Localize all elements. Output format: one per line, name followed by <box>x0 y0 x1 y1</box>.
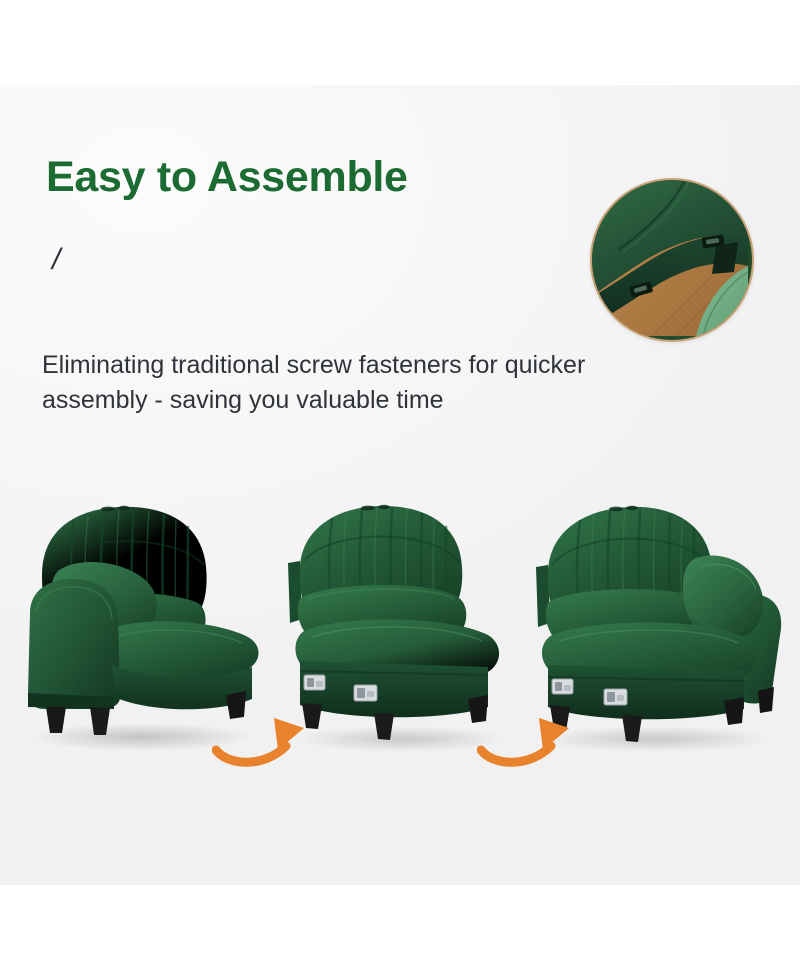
body-description: Eliminating traditional screw fasteners … <box>42 348 642 417</box>
infographic-page: Easy to Assemble / Eliminating tradition… <box>0 0 800 977</box>
curved-arrow-icon <box>212 712 322 770</box>
flow-arrow-middle-to-right <box>477 712 587 770</box>
flow-arrow-left-to-middle <box>212 712 322 770</box>
connector-clip-icon <box>552 679 573 694</box>
connector-clip-icon <box>304 675 325 690</box>
module-row <box>0 495 800 765</box>
connector-closeup-photo <box>590 178 754 342</box>
connector-clip-icon <box>604 689 627 705</box>
subtitle-slash-mark: / <box>52 243 60 277</box>
connector-closeup-illustration <box>592 180 748 336</box>
sofa-leg <box>724 697 744 725</box>
page-title: Easy to Assemble <box>46 155 408 200</box>
curved-arrow-icon <box>477 712 587 770</box>
sofa-leg <box>758 687 774 713</box>
connector-clip-icon <box>354 685 377 701</box>
